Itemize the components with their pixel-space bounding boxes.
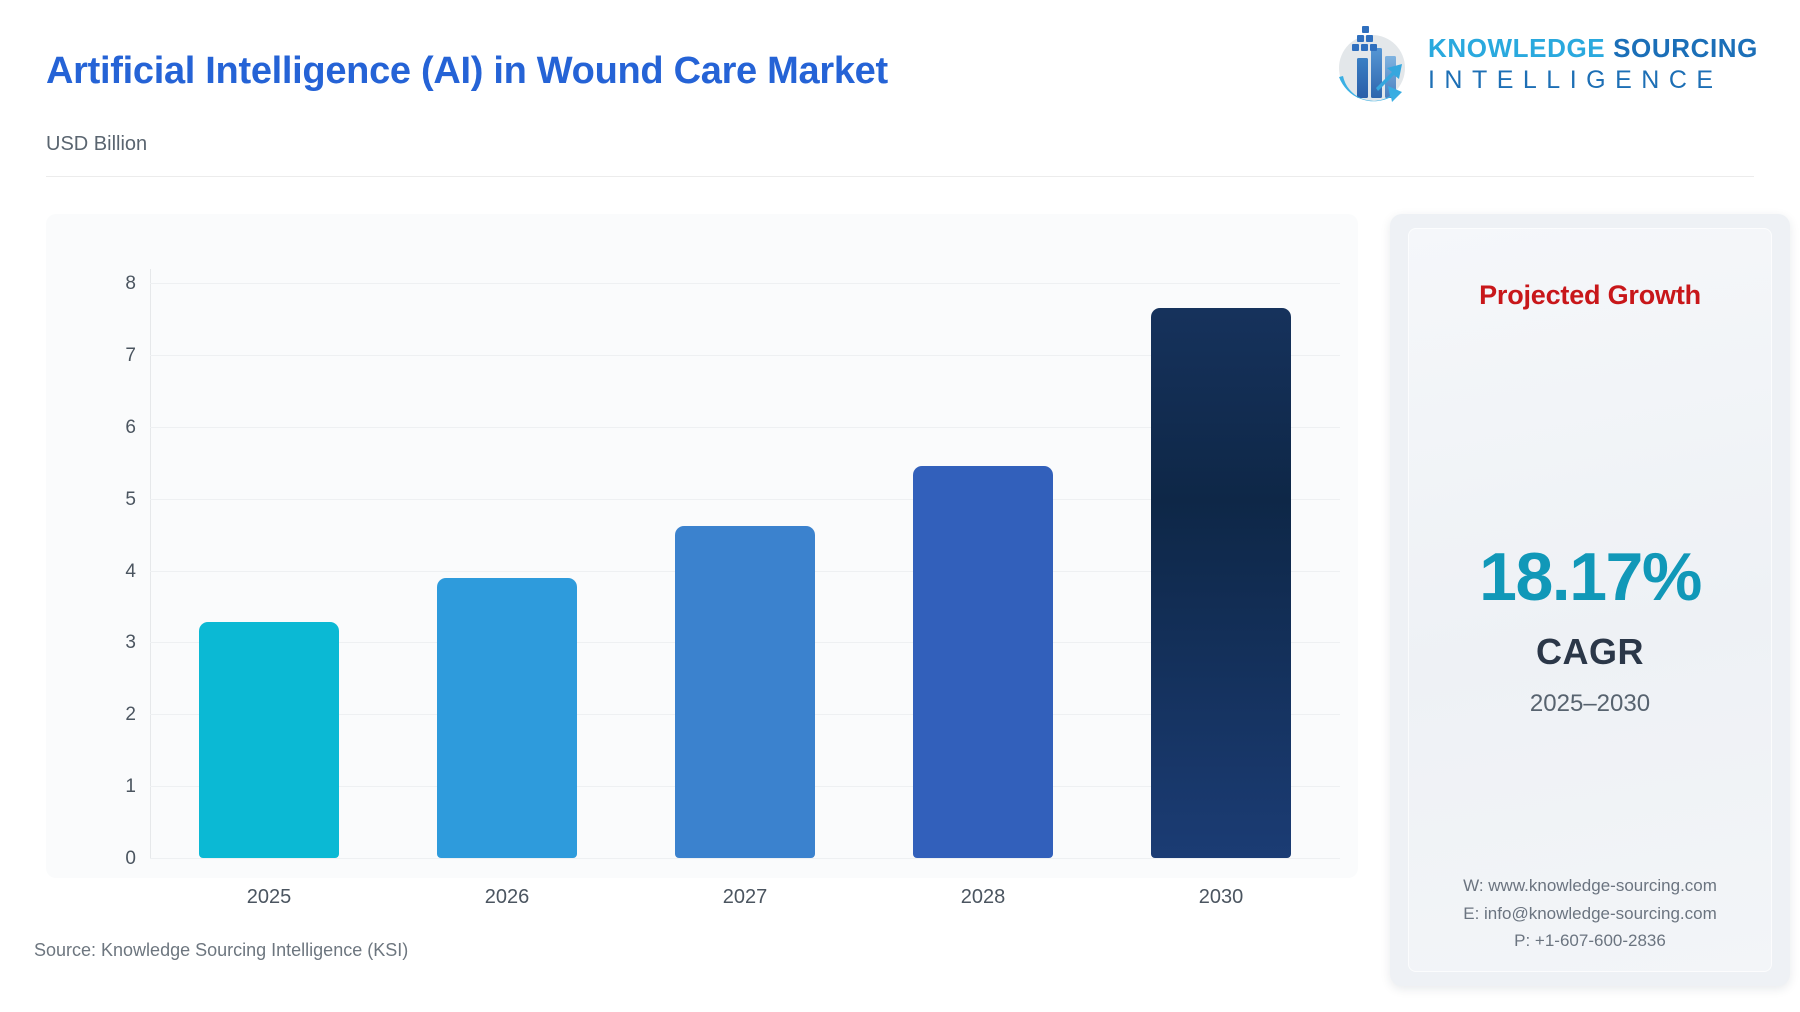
bar-2026[interactable] [437,578,577,858]
y-axis-tick-label: 3 [96,632,136,654]
bar-2030[interactable] [1151,308,1291,858]
y-axis-tick-label: 7 [96,345,136,367]
x-axis-tick-label: 2028 [864,886,1102,909]
logo-line1-knowledge: KNOWLEDGE [1428,33,1605,63]
logo-line2-intelligence: INTELLIGENCE [1428,67,1758,94]
bar-2028[interactable] [913,466,1053,858]
logo-wordmark: KNOWLEDGE SOURCING INTELLIGENCE [1428,35,1758,93]
bar-2027[interactable] [675,526,815,858]
contact-phone[interactable]: P: +1-607-600-2836 [1408,927,1772,955]
logo-line1-sourcing: SOURCING [1605,33,1758,63]
gridline [150,858,1340,859]
y-axis-tick-label: 4 [96,561,136,583]
y-axis-tick-label: 2 [96,704,136,726]
x-axis-tick-label: 2030 [1102,886,1340,909]
y-axis-tick-label: 0 [96,848,136,870]
y-axis-tick-label: 6 [96,417,136,439]
x-axis-tick-label: 2025 [150,886,388,909]
y-axis-line [150,269,151,859]
units-subtitle: USD Billion [46,133,147,156]
y-axis-tick-label: 5 [96,489,136,511]
bar-2025[interactable] [199,622,339,858]
cagr-period: 2025–2030 [1408,690,1772,718]
cagr-value: 18.17% [1408,538,1772,616]
contact-email[interactable]: E: info@knowledge-sourcing.com [1408,900,1772,928]
contact-website[interactable]: W: www.knowledge-sourcing.com [1408,872,1772,900]
y-axis-tick-label: 8 [96,273,136,295]
cagr-label: CAGR [1408,631,1772,673]
projected-growth-card-inner: Projected Growth 18.17% CAGR 2025–2030 W… [1408,228,1772,972]
brand-logo: KNOWLEDGE SOURCING INTELLIGENCE [1330,22,1758,106]
chart-infographic-page: Artificial Intelligence (AI) in Wound Ca… [0,0,1800,1012]
header: Artificial Intelligence (AI) in Wound Ca… [0,0,1800,176]
chart-panel: 012345678 [46,214,1358,878]
bar-chart-plot-area: 012345678 [46,214,1358,878]
header-divider [46,176,1754,177]
knowledge-sourcing-logo-icon [1330,22,1414,106]
projected-growth-card: Projected Growth 18.17% CAGR 2025–2030 W… [1390,214,1790,986]
gridline [150,283,1340,284]
y-axis-tick-label: 1 [96,776,136,798]
x-axis-tick-label: 2027 [626,886,864,909]
page-title: Artificial Intelligence (AI) in Wound Ca… [46,50,888,93]
projected-growth-title: Projected Growth [1408,280,1772,311]
source-note: Source: Knowledge Sourcing Intelligence … [34,940,408,961]
contact-block: W: www.knowledge-sourcing.com E: info@kn… [1408,872,1772,955]
x-axis-tick-label: 2026 [388,886,626,909]
